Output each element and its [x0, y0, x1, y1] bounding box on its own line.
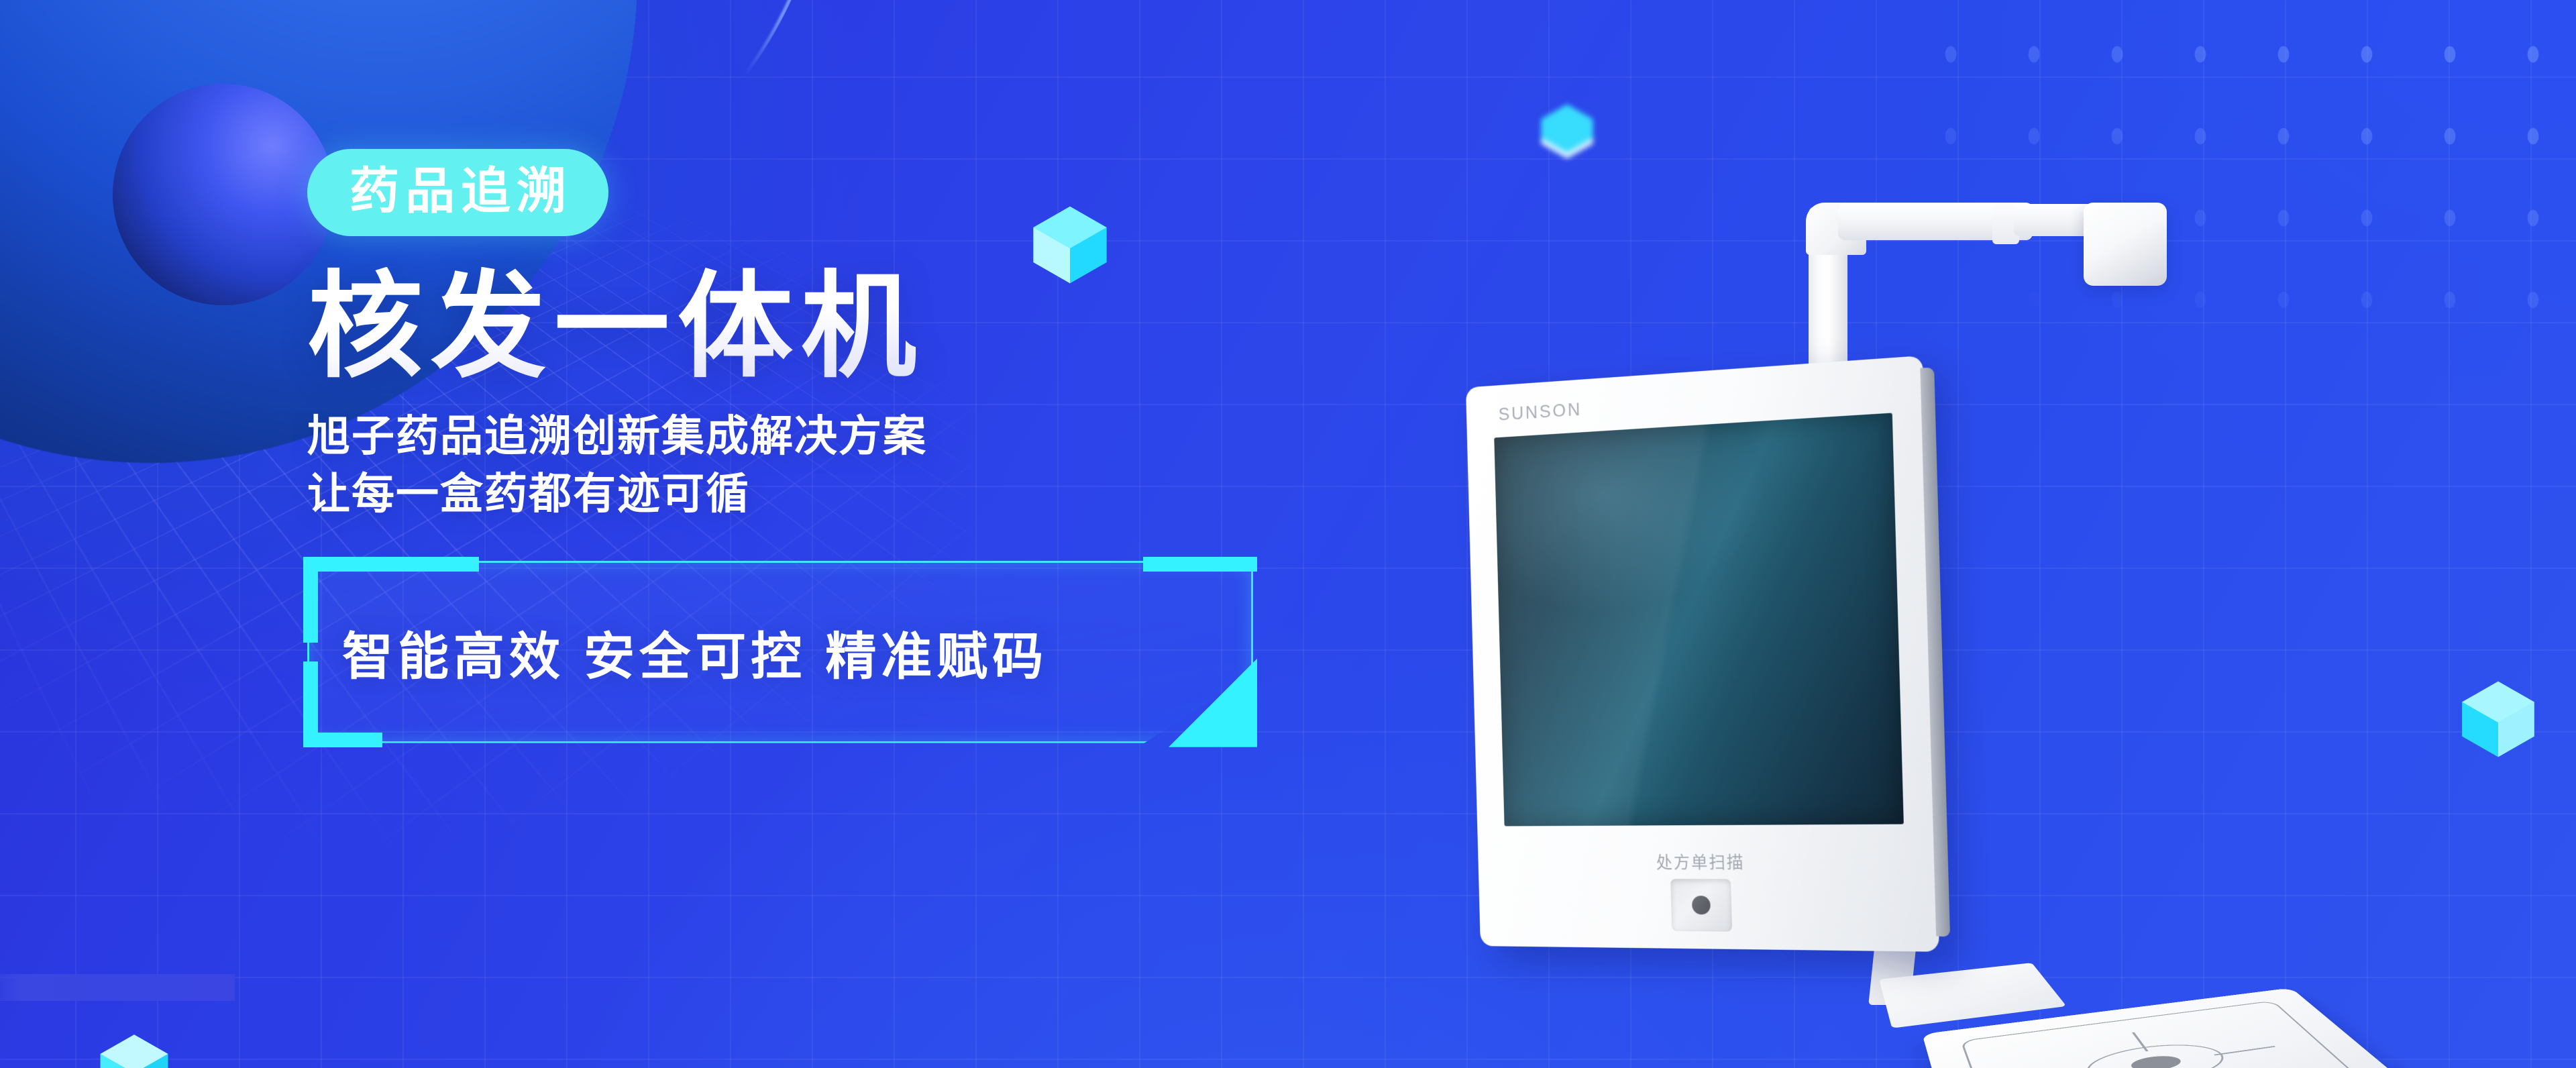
scan-function-label: 处方单扫描: [1478, 849, 1937, 874]
frame-corner-bottom-left-h: [303, 733, 382, 747]
promo-banner: 药品追溯 核发一体机 旭子药品追溯创新集成解决方案 让每一盒药都有迹可循 智能高…: [0, 0, 2576, 1068]
camera-head-icon: [2084, 203, 2167, 286]
headline-title: 核发一体机: [307, 267, 1287, 387]
mesh-grid-pattern-lower: [0, 1064, 1082, 1068]
subtitle-line-2: 让每一盒药都有迹可循: [307, 465, 1287, 523]
product-device-illustration: SUNSON 处方单扫描: [1462, 181, 2348, 906]
device-monitor: SUNSON 处方单扫描: [1466, 356, 1939, 952]
tagline-frame: 智能高效 安全可控 精准赋码: [307, 561, 1253, 743]
cube-icon-right: [2455, 676, 2541, 762]
frame-corner-top-left-v: [303, 557, 318, 643]
cube-icon-bottom-left: [94, 1030, 174, 1068]
frame-corner-top-left-h: [303, 557, 479, 572]
subtitle-block: 旭子药品追溯创新集成解决方案 让每一盒药都有迹可循: [307, 407, 1287, 523]
tagline-text: 智能高效 安全可控 精准赋码: [342, 615, 1048, 689]
sensor-dot-icon: [1670, 879, 1732, 932]
subtitle-line-1: 旭子药品追溯创新集成解决方案: [307, 407, 1287, 465]
planet-icon-small: [113, 84, 334, 305]
category-badge-label: 药品追溯: [343, 166, 572, 216]
accent-bar: [0, 974, 235, 1001]
scan-pad-tick-right: [2214, 1046, 2275, 1055]
frame-corner-top-right: [1143, 557, 1257, 572]
banner-content: 药品追溯 核发一体机 旭子药品追溯创新集成解决方案 让每一盒药都有迹可循 智能高…: [307, 149, 1287, 743]
category-badge: 药品追溯: [307, 149, 608, 236]
sensor-lens: [1692, 896, 1711, 914]
screen-gloss-overlay: [1494, 413, 1904, 826]
device-brand-label: SUNSON: [1498, 399, 1582, 425]
cube-glow-icon: [1536, 101, 1598, 162]
device-screen: [1494, 413, 1904, 826]
